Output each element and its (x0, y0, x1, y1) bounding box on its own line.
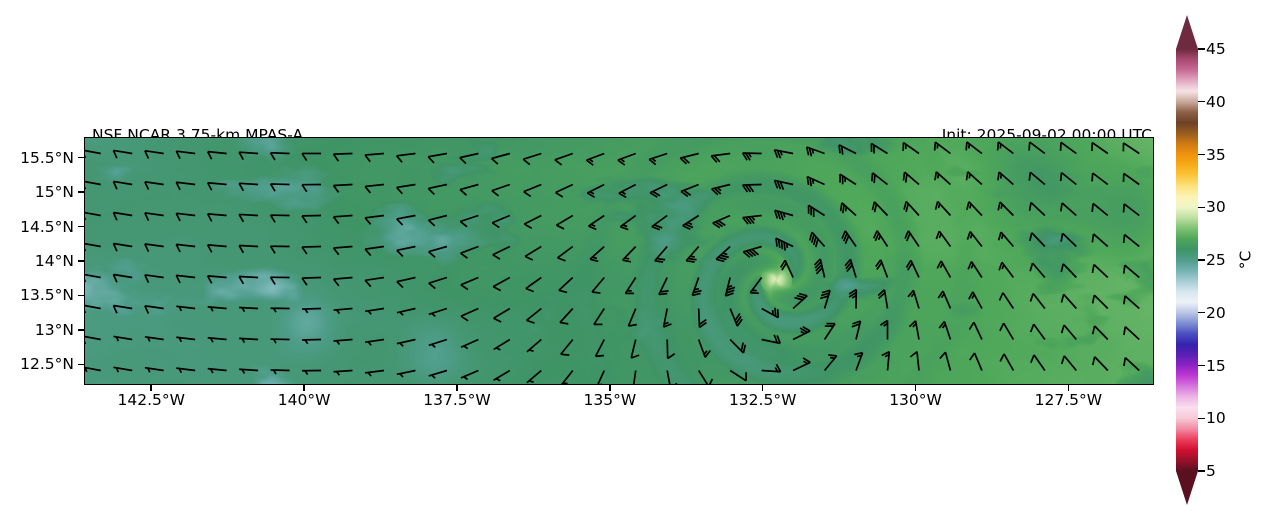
colorbar-tickmark (1198, 259, 1205, 260)
wind-barb (596, 371, 604, 386)
wind-barb (1000, 354, 1013, 371)
wind-barb (176, 151, 195, 159)
wind-barb (1030, 294, 1044, 309)
wind-barb (429, 340, 447, 348)
wind-barb (937, 261, 950, 278)
wind-barb (999, 232, 1014, 246)
longitude-tick-label: 135°W (583, 391, 636, 409)
longitude-tick-label: 142.5°W (118, 391, 185, 409)
wind-barb (730, 340, 745, 354)
latitude-tick-label: 14°N (35, 252, 74, 270)
colorbar-tick-label: 20 (1206, 304, 1226, 322)
wind-barb (527, 371, 541, 383)
wind-barb (523, 154, 541, 165)
wind-barb (397, 185, 416, 194)
wind-barb (428, 154, 447, 163)
wind-barb (239, 369, 258, 373)
wind-barb (176, 306, 195, 311)
wind-barb (967, 232, 981, 247)
wind-barb (872, 202, 887, 216)
wind-barb (713, 216, 730, 228)
wind-barb (1061, 142, 1077, 153)
wind-barb (1030, 263, 1045, 277)
wind-barb (560, 309, 573, 324)
wind-barb (781, 260, 793, 277)
wind-barb (649, 154, 667, 165)
wind-barb (852, 321, 861, 339)
wind-barb (592, 278, 604, 294)
wind-barb (1123, 173, 1139, 184)
longitude-tick-label: 127.5°W (1035, 391, 1102, 409)
wind-barb (730, 309, 742, 327)
wind-barb (1093, 295, 1108, 308)
wind-barb (880, 321, 887, 340)
wind-barb (908, 290, 919, 308)
wind-barb (527, 340, 541, 352)
wind-barb (271, 370, 290, 374)
wind-barb (840, 174, 856, 184)
wind-barb (1124, 358, 1139, 371)
wind-barb (365, 154, 384, 162)
map-axes (84, 137, 1154, 385)
wind-barb (365, 371, 384, 377)
wind-barb (936, 231, 950, 246)
wind-barb (652, 216, 667, 230)
longitude-tickmark (762, 385, 764, 391)
wind-barb (365, 185, 384, 194)
wind-barb (849, 290, 856, 309)
wind-barb (775, 180, 794, 189)
wind-barb (176, 275, 195, 283)
latitude-tickmark (78, 226, 84, 228)
wind-barb (910, 352, 919, 371)
wind-barb (524, 185, 542, 197)
wind-barb (998, 142, 1014, 154)
longitude-tickmark (456, 385, 458, 391)
wind-barb (494, 340, 510, 350)
wind-barb (882, 352, 890, 371)
wind-barb (969, 322, 982, 339)
colorbar-tick-label: 25 (1206, 251, 1226, 269)
wind-barb (271, 184, 290, 191)
wind-barb (461, 309, 478, 321)
wind-barb (271, 153, 290, 160)
wind-barb (1061, 264, 1076, 278)
wind-barb (750, 278, 761, 294)
wind-barb (334, 216, 353, 224)
wind-barb (905, 231, 919, 247)
wind-barb (938, 291, 950, 308)
wind-barb (594, 309, 604, 325)
wind-barb (494, 371, 510, 381)
wind-barb (145, 151, 164, 159)
longitude-tick-label: 137.5°W (423, 391, 490, 409)
wind-barb (239, 307, 258, 311)
wind-barb (655, 247, 667, 262)
colorbar-extend-bottom-icon (1176, 471, 1198, 505)
wind-barb (208, 214, 227, 221)
wind-barb (1093, 326, 1108, 340)
wind-barb (793, 358, 810, 371)
wind-barb (1061, 203, 1076, 216)
wind-barb (428, 185, 447, 195)
wind-barb (659, 278, 669, 295)
wind-barb (625, 278, 635, 294)
wind-barb (113, 336, 132, 341)
wind-barb (561, 340, 573, 356)
latitude-tick-label: 14.5°N (20, 218, 74, 236)
wind-barb (1000, 323, 1013, 339)
wind-barb (1124, 204, 1140, 216)
wind-barb (628, 309, 636, 327)
wind-barb (113, 213, 132, 221)
wind-barb (239, 183, 258, 190)
wind-barb (397, 371, 416, 378)
wind-barb (558, 247, 573, 261)
wind-barb (716, 247, 730, 262)
wind-barb (1092, 234, 1107, 247)
wind-barb (526, 278, 541, 292)
wind-barb (365, 309, 384, 315)
wind-barb (145, 306, 164, 314)
wind-barb (681, 185, 699, 197)
wind-barb (525, 247, 541, 261)
wind-barb (1092, 203, 1108, 215)
wind-barb (876, 260, 888, 278)
wind-barb (874, 231, 888, 247)
wind-barb-layer (85, 138, 1154, 385)
wind-barb (699, 309, 707, 328)
wind-barb (774, 150, 793, 158)
wind-barb (85, 305, 101, 313)
wind-barb (208, 307, 227, 311)
wind-barb (493, 278, 510, 291)
colorbar-extend-top-icon (1176, 15, 1198, 49)
wind-barb (633, 371, 641, 386)
wind-barb (776, 238, 793, 250)
wind-barb (726, 278, 735, 296)
wind-barb (460, 216, 478, 227)
wind-barb (825, 355, 837, 371)
wind-barb (556, 216, 572, 229)
wind-barb (334, 185, 353, 193)
wind-barb (1000, 293, 1014, 309)
wind-barb (966, 172, 981, 185)
wind-barb (460, 185, 478, 196)
colorbar-unit-label: °C (1236, 251, 1254, 270)
wind-barb (814, 259, 824, 278)
latitude-tick-label: 12.5°N (20, 355, 74, 373)
wind-barb (397, 278, 416, 288)
wind-barb (302, 309, 321, 313)
longitude-tickmark (915, 385, 917, 391)
wind-barb (1124, 327, 1139, 340)
wind-barb (998, 172, 1013, 185)
wind-barb (1031, 324, 1045, 339)
wind-barb (1092, 143, 1108, 154)
wind-barb (492, 185, 510, 196)
wind-barb (334, 340, 353, 345)
wind-barb (1093, 357, 1108, 371)
wind-barb (239, 246, 258, 253)
wind-barb (397, 216, 416, 226)
wind-barb (619, 185, 636, 198)
colorbar-tickmark (1198, 312, 1205, 313)
wind-barb (461, 371, 478, 380)
wind-barb (968, 262, 982, 278)
wind-barb (999, 262, 1013, 277)
wind-barb (334, 154, 353, 162)
wind-barb (397, 340, 416, 347)
wind-barb (743, 153, 762, 160)
colorbar-tick-label: 40 (1206, 93, 1226, 111)
wind-barb (936, 201, 951, 215)
latitude-tickmark (78, 329, 84, 331)
wind-barb (239, 152, 258, 159)
wind-barb (85, 336, 101, 344)
wind-barb (239, 277, 258, 284)
wind-barb (176, 244, 195, 252)
wind-barb (969, 292, 982, 309)
wind-barb (664, 309, 672, 328)
wind-barb (935, 172, 950, 185)
wind-barb (176, 368, 195, 373)
wind-barb (623, 247, 636, 262)
wind-barb (762, 335, 781, 344)
wind-barb (302, 247, 321, 255)
wind-barb (1124, 235, 1140, 247)
wind-barb (590, 247, 604, 262)
wind-barb (854, 353, 862, 371)
colorbar-gradient (1176, 49, 1198, 471)
wind-barb (762, 308, 779, 318)
colorbar-tick-label: 15 (1206, 357, 1226, 375)
wind-barb (365, 247, 384, 256)
wind-barb (559, 278, 573, 293)
wind-barb (271, 277, 290, 284)
wind-barb (793, 294, 807, 309)
longitude-tick-label: 132.5°W (729, 391, 796, 409)
wind-barb (692, 278, 701, 296)
wind-barb (631, 340, 639, 358)
wind-barb (85, 274, 101, 282)
wind-barb (1061, 173, 1077, 185)
figure-canvas: NSF NCAR 3.75-km MPAS-A 2-m Temperature … (0, 0, 1268, 520)
wind-barb (762, 364, 781, 371)
wind-barb (334, 309, 353, 314)
colorbar-tickmark (1198, 101, 1205, 102)
colorbar-tickmark (1198, 418, 1205, 419)
wind-barb (904, 201, 919, 215)
colorbar-tick-label: 30 (1206, 198, 1226, 216)
wind-barb (586, 154, 604, 166)
wind-barb (145, 337, 164, 342)
wind-barb (397, 309, 416, 316)
wind-barb (807, 147, 825, 156)
wind-barb (845, 259, 856, 277)
wind-barb (909, 321, 919, 340)
wind-barb (872, 173, 888, 185)
wind-barb (85, 150, 101, 158)
wind-barb (492, 216, 510, 228)
wind-barb (903, 172, 919, 184)
wind-barb (809, 205, 825, 217)
latitude-tickmark (78, 364, 84, 366)
wind-barb (334, 247, 353, 255)
wind-barb (365, 278, 384, 287)
wind-barb (825, 324, 835, 340)
wind-barb (302, 185, 321, 192)
wind-barb (620, 216, 635, 230)
wind-barb (1030, 233, 1045, 247)
latitude-tick-label: 13.5°N (20, 286, 74, 304)
wind-barb (667, 340, 674, 359)
wind-barb (526, 309, 541, 324)
wind-barb (113, 275, 132, 283)
longitude-tickmark (1068, 385, 1070, 391)
wind-barb (271, 215, 290, 222)
wind-barb (561, 371, 573, 386)
colorbar-tickmark (1198, 470, 1205, 471)
wind-barb (429, 371, 447, 379)
longitude-tickmark (303, 385, 305, 391)
wind-barb (176, 213, 195, 221)
wind-barb (1124, 296, 1139, 309)
wind-barb (145, 213, 164, 221)
wind-barb (935, 142, 951, 153)
latitude-tick-label: 15.5°N (20, 149, 74, 167)
wind-barb (699, 340, 711, 358)
wind-barb (1062, 356, 1077, 371)
wind-barb (208, 245, 227, 252)
wind-barb (743, 185, 762, 192)
wind-barb (145, 275, 164, 283)
wind-barb (1124, 265, 1140, 277)
wind-barb (85, 243, 101, 251)
wind-barb (493, 247, 510, 260)
wind-barb (793, 327, 810, 340)
wind-barb (699, 371, 713, 386)
wind-barb (842, 231, 856, 247)
wind-barb (113, 150, 132, 158)
colorbar-tickmark (1198, 207, 1205, 208)
wind-barb (302, 340, 321, 344)
wind-barb (871, 143, 887, 153)
wind-barb (113, 367, 132, 372)
latitude-tickmark (78, 157, 84, 159)
wind-barb (365, 340, 384, 346)
wind-barb (429, 309, 447, 317)
wind-barb (966, 142, 982, 154)
wind-barb (145, 244, 164, 252)
wind-barb (461, 247, 479, 259)
wind-barb (743, 247, 761, 258)
wind-barb (998, 202, 1013, 215)
colorbar-tickmark (1198, 48, 1205, 49)
wind-barb (810, 232, 825, 247)
wind-barb (428, 216, 446, 226)
wind-barb (271, 308, 290, 312)
latitude-tickmark (78, 295, 84, 297)
wind-barb (145, 368, 164, 373)
wind-barb (113, 305, 132, 313)
wind-barb (555, 154, 573, 165)
wind-barb (271, 339, 290, 343)
wind-barb (1123, 143, 1139, 154)
wind-barb (841, 203, 856, 216)
wind-barb (239, 338, 258, 342)
wind-barb (208, 276, 227, 283)
wind-barb (839, 145, 856, 155)
wind-barb (906, 260, 919, 277)
wind-barb (365, 216, 384, 225)
wind-barb (334, 371, 353, 376)
wind-barb (1061, 294, 1076, 308)
colorbar[interactable] (1176, 15, 1198, 505)
wind-barb (940, 352, 951, 370)
longitude-tick-label: 140°W (278, 391, 331, 409)
wind-barb (680, 154, 698, 164)
wind-barb (208, 152, 227, 160)
wind-barb (730, 371, 746, 381)
wind-barb (239, 214, 258, 221)
wind-barb (775, 210, 793, 220)
wind-barb (1029, 172, 1045, 184)
wind-barb (596, 340, 605, 357)
wind-barb (650, 185, 667, 198)
wind-barb (271, 246, 290, 253)
colorbar-tick-label: 45 (1206, 40, 1226, 58)
wind-barb (429, 247, 447, 258)
wind-barb (85, 181, 101, 189)
wind-barb (208, 369, 227, 373)
wind-barb (903, 143, 919, 154)
latitude-tickmark (78, 191, 84, 193)
colorbar-tick-label: 10 (1206, 409, 1226, 427)
colorbar-tickmark (1198, 365, 1205, 366)
wind-barb (302, 278, 321, 286)
wind-barb (878, 290, 887, 309)
wind-barb (618, 154, 636, 166)
wind-barb (1062, 325, 1077, 339)
longitude-tick-label: 130°W (889, 391, 942, 409)
wind-barb (743, 216, 762, 225)
wind-barb (113, 181, 132, 189)
wind-barb (429, 278, 447, 289)
wind-barb (334, 278, 353, 286)
wind-barb (686, 247, 698, 262)
wind-barb (589, 216, 605, 230)
wind-barb (939, 321, 950, 339)
wind-barb (1061, 233, 1076, 246)
wind-barb (1031, 355, 1045, 371)
wind-barb (556, 185, 573, 197)
wind-barb (145, 182, 164, 190)
wind-barb (1030, 202, 1045, 215)
wind-barb (970, 353, 982, 371)
wind-barb (820, 290, 830, 308)
wind-barb (461, 278, 479, 290)
wind-barb (461, 340, 478, 349)
wind-barb (302, 371, 321, 375)
wind-barb (302, 153, 321, 160)
wind-barb (524, 216, 541, 229)
wind-barb (1092, 173, 1108, 184)
colorbar-tick-label: 35 (1206, 146, 1226, 164)
wind-barb (807, 177, 824, 187)
latitude-tick-label: 13°N (35, 321, 74, 339)
colorbar-tickmark (1198, 154, 1205, 155)
